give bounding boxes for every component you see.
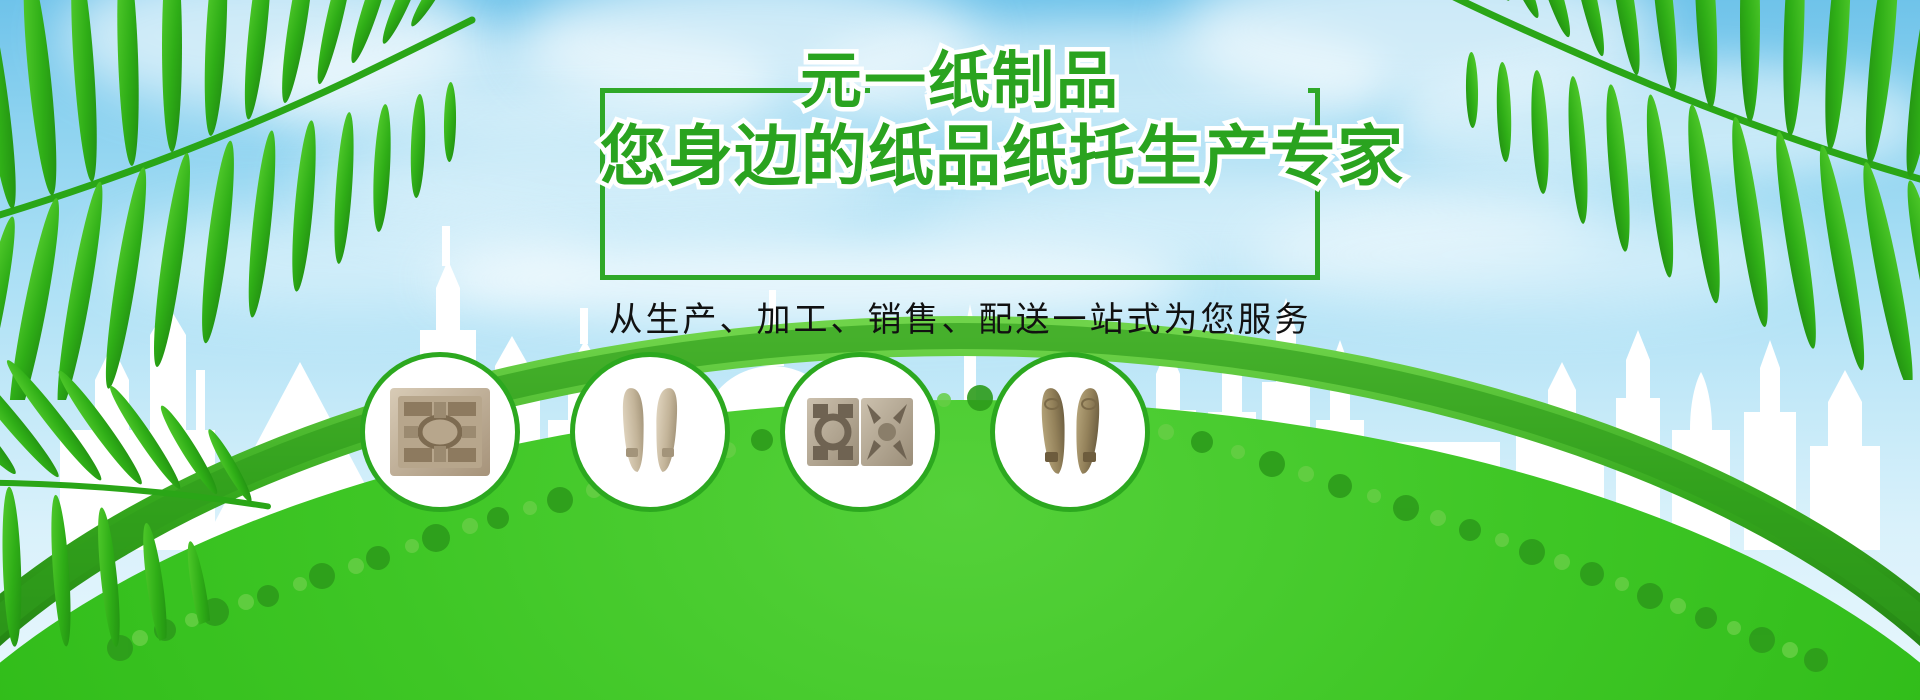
product-circle[interactable]	[780, 352, 940, 512]
product-circle[interactable]	[570, 352, 730, 512]
promo-banner: 元一纸制品 您身边的纸品纸托生产专家 从生产、加工、销售、配送一站式为您服务	[0, 0, 1920, 700]
headline-frame: 元一纸制品 您身边的纸品纸托生产专家	[600, 88, 1320, 280]
banner-alt-text: 元一纸制品 banner	[0, 0, 1, 1]
product-circle-row	[0, 352, 1920, 532]
paper-pulp-corner-pair-icon	[804, 382, 916, 482]
paper-pulp-tray-square-icon	[384, 382, 496, 482]
product-circle[interactable]	[360, 352, 520, 512]
paper-pulp-shoe-trees-dark-icon	[1014, 382, 1126, 482]
banner-title-line-1: 元一纸制品	[600, 50, 1320, 112]
product-circle[interactable]	[990, 352, 1150, 512]
banner-title-line-2: 您身边的纸品纸托生产专家	[600, 124, 1320, 190]
paper-pulp-shoe-trees-light-icon	[594, 382, 706, 482]
banner-subtitle: 从生产、加工、销售、配送一站式为您服务	[609, 292, 1312, 341]
